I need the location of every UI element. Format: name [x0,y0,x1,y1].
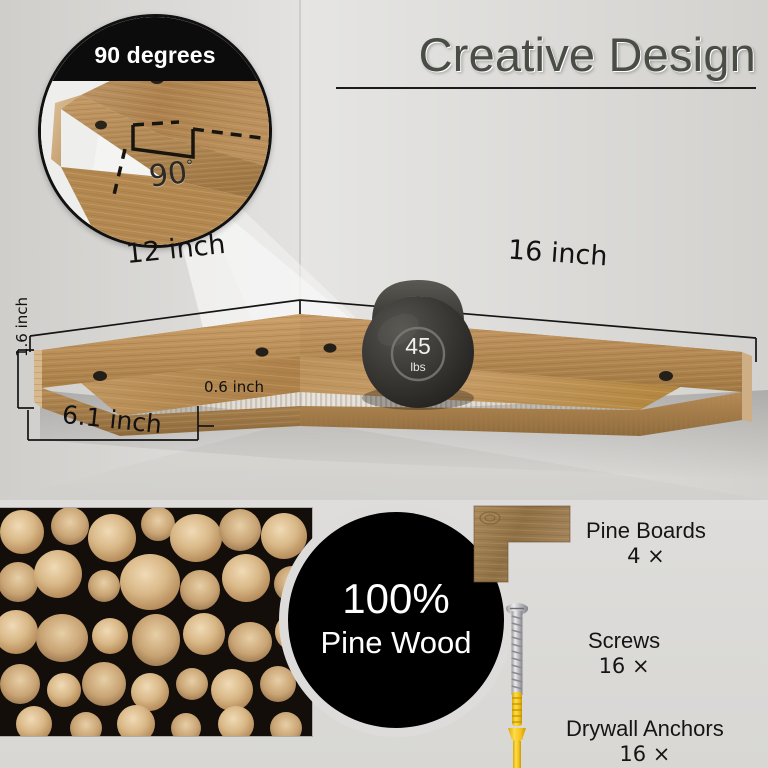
part-label: Drywall Anchors [566,717,724,741]
magnifier-caption-label: 90 degrees [94,42,215,69]
dimension-label-lip: 0.6 inch [204,378,264,396]
list-item-pine-boards: Pine Boards 4 × [472,504,706,584]
parts-list: Pine Boards 4 × [472,500,768,750]
angle-value-label: 90° [147,154,197,194]
badge-material: Pine Wood [320,624,471,663]
part-quantity: 16 × [566,742,724,767]
detail-magnifier-circle: 90° 90 degrees [38,14,272,248]
list-item-drywall-anchors: Drywall Anchors 16 × [504,690,724,768]
infographic-canvas: Creative Design [0,0,768,768]
drywall-anchor-icon [504,690,530,768]
title-underline [336,87,756,89]
kettlebell-unit: lbs [410,360,425,374]
dimension-label-thickness: 1.6 inch [13,287,31,367]
magnifier-caption-bar: 90 degrees [41,17,269,81]
page-title: Creative Design [336,30,756,79]
part-quantity: 16 × [588,654,660,679]
part-quantity: 4 × [586,544,706,569]
kettlebell-45lbs: 45 lbs [362,280,474,410]
headline-block: Creative Design [336,30,756,89]
part-label: Screws [588,629,660,653]
pine-logs-photo [0,508,312,736]
kettlebell-weight: 45 [405,333,431,359]
pine-board-icon [472,504,572,584]
corner-shelf-illustration: 45 lbs [0,230,768,480]
badge-percent: 100% [342,578,449,620]
part-label: Pine Boards [586,519,706,543]
